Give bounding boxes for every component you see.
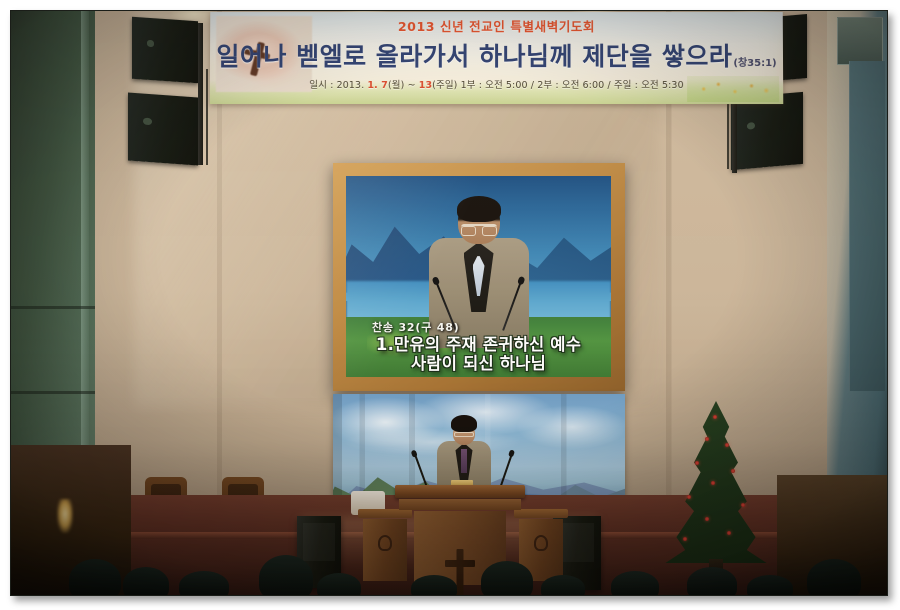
schedule-session-3: 주일 : 오전 5:30: [614, 80, 684, 91]
tree-ornament: [731, 469, 735, 473]
schedule-tilde: ~: [408, 80, 416, 91]
audience-head: [69, 559, 121, 595]
audience-head: [687, 567, 737, 595]
tree-ornament: [705, 437, 709, 441]
slide-preacher-hair: [457, 196, 501, 222]
hymn-lyric-line-2: 사람이 되신 하나님: [350, 355, 607, 373]
banner-main-text: 일어나 벧엘로 올라가서 하나님께 제단을 쌓으라: [216, 37, 732, 73]
audience-head: [179, 571, 229, 595]
pulpit-mid-shelf: [399, 499, 521, 510]
glasses-icon: [461, 224, 497, 232]
audience-head: [123, 567, 169, 595]
hymn-lyric-line-1: 1.만유의 주재 존귀하신 예수: [350, 336, 607, 354]
tree-ornament: [713, 415, 717, 419]
audience-head: [541, 575, 585, 595]
prayer-meeting-banner: 2013 신년 전교인 특별새벽기도회 일어나 벧엘로 올라가서 하나님께 제단…: [210, 12, 784, 104]
photo-frame: 2013 신년 전교인 특별새벽기도회 일어나 벧엘로 올라가서 하나님께 제단…: [10, 10, 888, 596]
speaker-icon: [132, 17, 198, 84]
left-wall-rail: [11, 391, 95, 394]
schedule-separator: /: [607, 80, 610, 91]
preacher-hair: [451, 415, 477, 432]
pulpit-top-shelf: [395, 485, 525, 498]
speaker-cable: [206, 69, 208, 165]
audience-head: [317, 573, 361, 595]
audience-head: [611, 571, 659, 595]
wall-lamp-icon: [57, 499, 73, 533]
stand-emblem-icon: [378, 535, 392, 551]
right-side-door: [849, 61, 885, 391]
audience-head: [411, 575, 457, 595]
cross-icon: [457, 549, 464, 595]
audience-head: [481, 561, 533, 595]
tree-ornament: [727, 531, 731, 535]
schedule-start-day: 1. 7: [367, 80, 388, 91]
stand-top: [514, 509, 568, 518]
tree-ornament: [695, 461, 699, 465]
banner-schedule: 일시 : 2013. 1. 7(월) ~ 13(주일) 1부 : 오전 5:00…: [309, 77, 683, 91]
hymn-number-label: 찬송 32(구 48): [372, 319, 607, 335]
preacher-tie: [461, 449, 467, 473]
tree-foliage: [661, 401, 771, 563]
speaker-icon: [128, 93, 198, 166]
schedule-end-day: 13: [419, 80, 432, 91]
right-transom-window: [837, 17, 883, 65]
banner-scripture-reference: (창35:1): [733, 54, 776, 69]
tree-ornament: [705, 517, 709, 521]
audience-head: [259, 555, 313, 595]
stand-emblem-icon: [534, 535, 548, 551]
schedule-label: 일시 : 2013.: [309, 80, 364, 91]
tree-ornament: [687, 495, 691, 499]
speaker-bracket: [198, 23, 203, 165]
tree-ornament: [711, 481, 715, 485]
banner-main-row: 일어나 벧엘로 올라가서 하나님께 제단을 쌓으라 (창35:1): [216, 37, 776, 73]
tree-ornament: [725, 443, 729, 447]
schedule-separator: /: [531, 80, 534, 91]
glasses-icon: [454, 432, 474, 437]
audience-head: [747, 575, 793, 595]
sanctuary-photo: 2013 신년 전교인 특별새벽기도회 일어나 벧엘로 올라가서 하나님께 제단…: [11, 11, 887, 595]
schedule-session-2: 2부 : 오전 6:00: [537, 80, 604, 91]
schedule-session-1: 1부 : 오전 5:00: [461, 80, 528, 91]
projection-screen: 찬송 32(구 48) 1.만유의 주재 존귀하신 예수 사람이 되신 하나님: [346, 176, 611, 377]
tree-ornament: [741, 503, 745, 507]
slide-caption: 찬송 32(구 48) 1.만유의 주재 존귀하신 예수 사람이 되신 하나님: [346, 319, 611, 373]
photo-mat: 2013 신년 전교인 특별새벽기도회 일어나 벧엘로 올라가서 하나님께 제단…: [0, 0, 900, 610]
cross-icon: [445, 560, 475, 567]
projection-screen-frame: 찬송 32(구 48) 1.만유의 주재 존귀하신 예수 사람이 되신 하나님: [333, 163, 625, 391]
audience-head: [807, 559, 861, 595]
schedule-start-dow: (월): [388, 80, 404, 91]
banner-title: 2013 신년 전교인 특별새벽기도회: [398, 16, 595, 35]
tree-ornament: [683, 537, 687, 541]
hanging-speaker-stack-left: [106, 19, 226, 159]
left-wall-rail: [11, 306, 95, 309]
christmas-tree: [661, 399, 771, 579]
schedule-end-dow: (주일): [432, 80, 457, 91]
